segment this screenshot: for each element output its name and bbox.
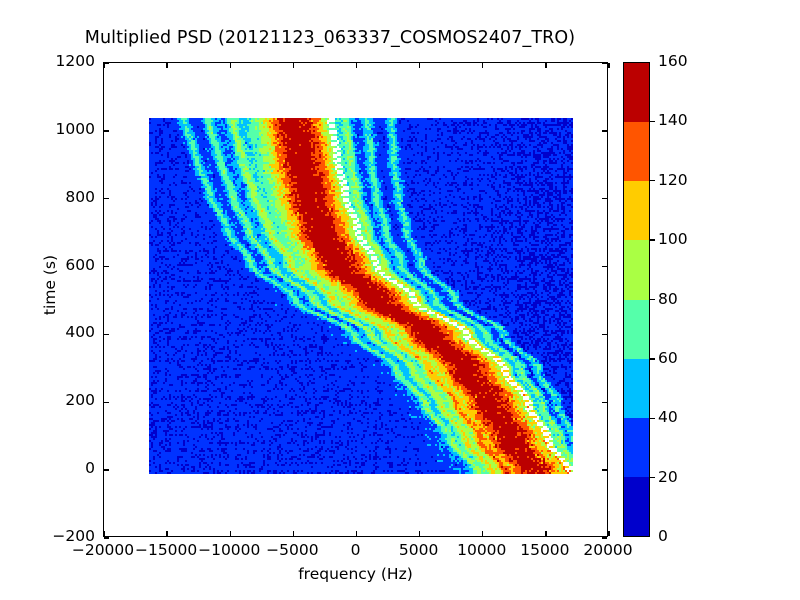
colorbar-tick	[650, 299, 655, 300]
x-tick	[608, 531, 609, 536]
y-tick	[602, 266, 607, 267]
y-tick	[104, 62, 109, 63]
y-tick	[104, 469, 109, 470]
x-tick	[103, 63, 104, 68]
colorbar-tick-label: 80	[658, 290, 678, 308]
x-tick	[166, 531, 167, 536]
colorbar-band	[624, 418, 649, 477]
y-tick-label: 600	[15, 256, 95, 274]
colorbar	[623, 62, 650, 537]
y-tick	[602, 469, 607, 470]
x-tick	[230, 531, 231, 536]
colorbar-tick-label: 60	[658, 349, 678, 367]
x-tick	[293, 531, 294, 536]
y-tick-label: 1000	[15, 120, 95, 138]
x-tick-label: 20000	[548, 541, 668, 559]
x-tick	[103, 531, 104, 536]
x-tick	[230, 63, 231, 68]
x-tick	[356, 63, 357, 68]
colorbar-tick	[650, 121, 655, 122]
colorbar-tick	[650, 239, 655, 240]
y-tick-label: 400	[15, 323, 95, 341]
colorbar-tick	[650, 358, 655, 359]
chart-title: Multiplied PSD (20121123_063337_COSMOS24…	[0, 28, 660, 48]
y-tick	[602, 537, 607, 538]
y-tick-label: −200	[15, 527, 95, 545]
y-tick-label: 200	[15, 391, 95, 409]
x-tick	[482, 63, 483, 68]
x-tick	[419, 531, 420, 536]
y-tick	[104, 198, 109, 199]
colorbar-tick-label: 120	[658, 171, 688, 189]
colorbar-band	[624, 300, 649, 359]
y-tick	[104, 537, 109, 538]
colorbar-band	[624, 477, 649, 536]
y-tick	[104, 402, 109, 403]
y-tick-label: 0	[15, 459, 95, 477]
x-tick	[545, 531, 546, 536]
colorbar-tick-label: 160	[658, 52, 688, 70]
x-tick	[166, 63, 167, 68]
x-tick	[356, 531, 357, 536]
y-tick-label: 800	[15, 188, 95, 206]
figure-canvas: Multiplied PSD (20121123_063337_COSMOS24…	[0, 0, 800, 600]
colorbar-band	[624, 240, 649, 299]
x-axis-title: frequency (Hz)	[103, 565, 608, 583]
colorbar-band	[624, 63, 649, 122]
colorbar-tick	[650, 477, 655, 478]
x-tick	[482, 531, 483, 536]
spectrogram-image	[149, 118, 573, 474]
colorbar-tick	[650, 180, 655, 181]
y-tick	[602, 334, 607, 335]
x-tick	[545, 63, 546, 68]
x-tick	[419, 63, 420, 68]
colorbar-band	[624, 359, 649, 418]
y-tick	[104, 334, 109, 335]
colorbar-tick-label: 140	[658, 111, 688, 129]
colorbar-tick-label: 40	[658, 408, 678, 426]
colorbar-tick-label: 0	[658, 527, 668, 545]
y-tick	[104, 266, 109, 267]
y-tick	[602, 198, 607, 199]
colorbar-tick-label: 20	[658, 468, 678, 486]
colorbar-tick-label: 100	[658, 230, 688, 248]
y-tick	[602, 62, 607, 63]
plot-axes	[103, 62, 608, 537]
colorbar-tick	[650, 418, 655, 419]
y-tick	[602, 402, 607, 403]
y-tick	[104, 130, 109, 131]
x-tick	[293, 63, 294, 68]
colorbar-band	[624, 181, 649, 240]
colorbar-band	[624, 122, 649, 181]
y-tick	[602, 130, 607, 131]
x-tick	[608, 63, 609, 68]
y-tick-label: 1200	[15, 52, 95, 70]
